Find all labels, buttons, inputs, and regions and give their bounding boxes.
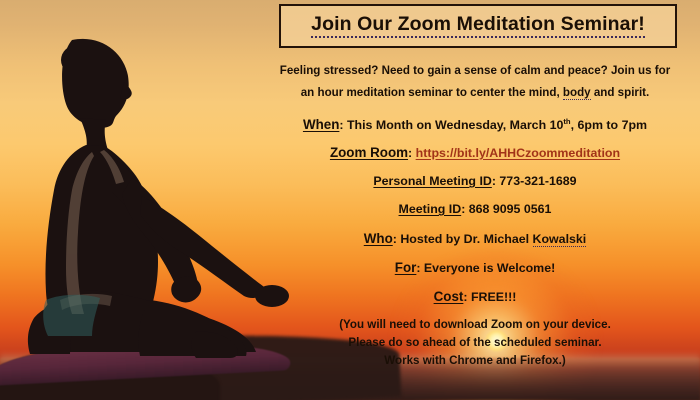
when-value-b: , 6pm to 7pm bbox=[571, 118, 647, 132]
intro-line-1: Feeling stressed? Need to gain a sense o… bbox=[250, 64, 700, 77]
spellchecked-word-body: body bbox=[563, 86, 591, 100]
who-line: Who: Hosted by Dr. Michael Kowalski bbox=[250, 231, 700, 246]
intro-line-2-part-a: an hour meditation seminar to center the… bbox=[301, 86, 563, 99]
for-label: For bbox=[395, 260, 417, 275]
cost-value: : FREE!!! bbox=[463, 290, 516, 304]
meeting-id-value: : 868 9095 0561 bbox=[461, 202, 551, 216]
cost-line: Cost: FREE!!! bbox=[250, 289, 700, 304]
note-line-1: (You will need to download Zoom on your … bbox=[250, 318, 700, 331]
for-line: For: Everyone is Welcome! bbox=[250, 260, 700, 275]
zoom-room-link[interactable]: https://bit.ly/AHHCzoommeditation bbox=[416, 146, 620, 160]
zoom-room-separator: : bbox=[408, 146, 416, 160]
meditation-seminar-flyer: Join Our Zoom Meditation Seminar! Feelin… bbox=[0, 0, 700, 400]
cost-label: Cost bbox=[434, 289, 464, 304]
note-line-2: Please do so ahead of the scheduled semi… bbox=[250, 336, 700, 349]
personal-meeting-id-label: Personal Meeting ID bbox=[373, 174, 491, 188]
flyer-text-content: Join Our Zoom Meditation Seminar! Feelin… bbox=[250, 0, 700, 400]
intro-line-2: an hour meditation seminar to center the… bbox=[250, 86, 700, 99]
zoom-room-label: Zoom Room bbox=[330, 145, 408, 160]
meeting-id-line: Meeting ID: 868 9095 0561 bbox=[250, 202, 700, 216]
page-title: Join Our Zoom Meditation Seminar! bbox=[311, 14, 645, 37]
note-line-3: Works with Chrome and Firefox.) bbox=[250, 354, 700, 367]
title-box: Join Our Zoom Meditation Seminar! bbox=[279, 4, 677, 48]
who-value-a: : Hosted by Dr. Michael bbox=[393, 232, 533, 246]
when-label: When bbox=[303, 117, 339, 132]
intro-line-2-part-b: and spirit. bbox=[591, 86, 650, 99]
for-value: : Everyone is Welcome! bbox=[416, 261, 555, 275]
when-ordinal-suffix: th bbox=[563, 117, 570, 126]
personal-meeting-id-value: : 773-321-1689 bbox=[492, 174, 577, 188]
zoom-room-line: Zoom Room: https://bit.ly/AHHCzoommedita… bbox=[250, 145, 700, 160]
when-value-a: : This Month on Wednesday, March 10 bbox=[339, 118, 563, 132]
meeting-id-label: Meeting ID bbox=[399, 202, 462, 216]
spellchecked-word-kowalski: Kowalski bbox=[533, 232, 587, 247]
who-label: Who bbox=[364, 231, 393, 246]
personal-meeting-id-line: Personal Meeting ID: 773-321-1689 bbox=[250, 174, 700, 188]
when-line: When: This Month on Wednesday, March 10t… bbox=[250, 117, 700, 132]
